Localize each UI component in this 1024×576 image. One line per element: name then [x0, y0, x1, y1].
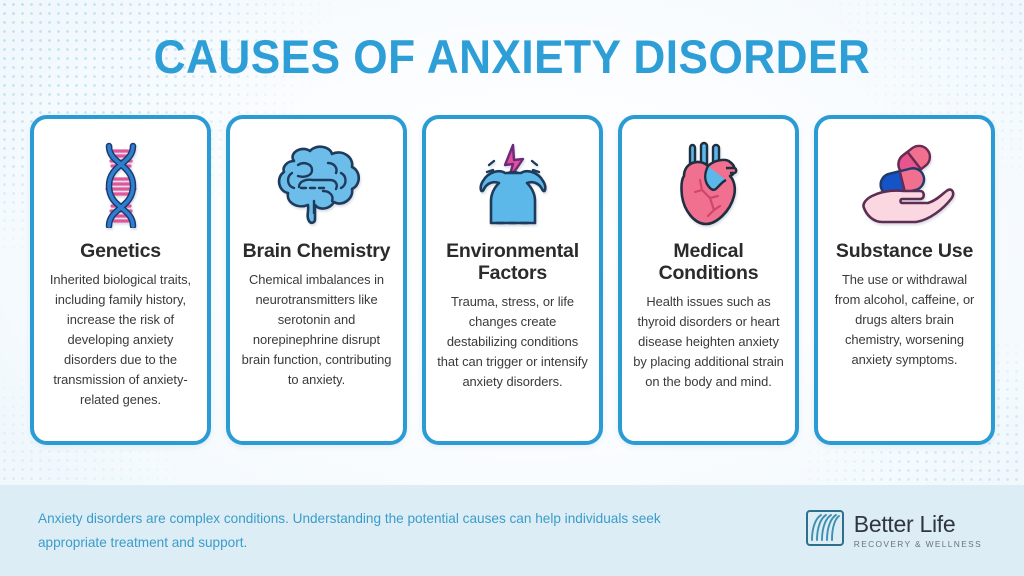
card-title: Genetics [80, 241, 161, 263]
dna-helix-icon [93, 133, 149, 237]
book-pages-logo-icon [805, 509, 845, 552]
card-title: Brain Chemistry [243, 241, 391, 263]
page-title: CAUSES OF ANXIETY DISORDER [31, 29, 994, 84]
card-body: Health issues such as thyroid disorders … [633, 292, 784, 392]
card-substance-use[interactable]: Substance Use The use or withdrawal from… [814, 115, 995, 445]
card-title: Substance Use [836, 241, 973, 263]
card-environmental-factors[interactable]: Environmental Factors Trauma, stress, or… [422, 115, 603, 445]
card-title: Medical Conditions [633, 241, 784, 285]
footer: Anxiety disorders are complex conditions… [0, 485, 1024, 576]
brand-logo[interactable]: Better Life RECOVERY & WELLNESS [805, 509, 982, 552]
brain-icon [268, 133, 366, 237]
heart-icon [670, 133, 748, 237]
logo-name: Better Life [854, 513, 982, 536]
card-body: Chemical imbalances in neurotransmitters… [241, 270, 392, 390]
footer-summary-text: Anxiety disorders are complex conditions… [38, 507, 678, 554]
hand-with-pills-icon [854, 133, 956, 237]
cards-row: Genetics Inherited biological traits, in… [30, 115, 995, 445]
logo-text-block: Better Life RECOVERY & WELLNESS [854, 513, 982, 549]
card-brain-chemistry[interactable]: Brain Chemistry Chemical imbalances in n… [226, 115, 407, 445]
stressed-person-icon [467, 133, 559, 237]
logo-tagline: RECOVERY & WELLNESS [854, 539, 982, 549]
card-title: Environmental Factors [437, 241, 588, 285]
card-medical-conditions[interactable]: Medical Conditions Health issues such as… [618, 115, 799, 445]
card-body: Inherited biological traits, including f… [45, 270, 196, 410]
card-body: The use or withdrawal from alcohol, caff… [829, 270, 980, 370]
card-genetics[interactable]: Genetics Inherited biological traits, in… [30, 115, 211, 445]
card-body: Trauma, stress, or life changes create d… [437, 292, 588, 392]
